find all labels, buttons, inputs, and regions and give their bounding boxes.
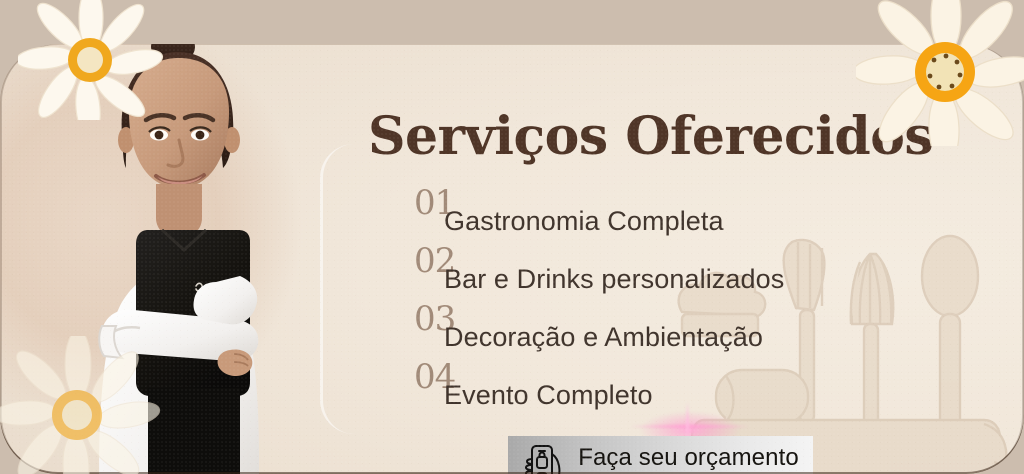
cta-label: Faça seu orçamento	[578, 444, 799, 471]
list-item-label: Gastronomia Completa	[444, 206, 724, 236]
list-item-label: Evento Completo	[444, 380, 653, 410]
list-item[interactable]: 01 Gastronomia Completa	[414, 194, 934, 252]
content-card: Serviços Oferecidos 01 Gastronomia Compl…	[0, 44, 1024, 474]
promo-banner: Serviços Oferecidos 01 Gastronomia Compl…	[0, 0, 1024, 474]
list-item-label: Decoração e Ambientação	[444, 322, 763, 352]
quote-cta-button[interactable]: Faça seu orçamento << CLIQUE AQUI >>	[508, 436, 813, 474]
list-item[interactable]: 04 Evento Completo	[414, 368, 934, 426]
list-item-label: Bar e Drinks personalizados	[444, 264, 784, 294]
page-title: Serviços Oferecidos	[368, 108, 928, 166]
services-list: 01 Gastronomia Completa 02 Bar e Drinks …	[414, 194, 934, 426]
list-item[interactable]: 03 Decoração e Ambientação	[414, 310, 934, 368]
cta-text-wrap: Faça seu orçamento << CLIQUE AQUI >>	[578, 444, 813, 474]
list-item[interactable]: 02 Bar e Drinks personalizados	[414, 252, 934, 310]
phone-in-hand-icon	[520, 442, 566, 474]
chef-portrait	[44, 44, 344, 474]
